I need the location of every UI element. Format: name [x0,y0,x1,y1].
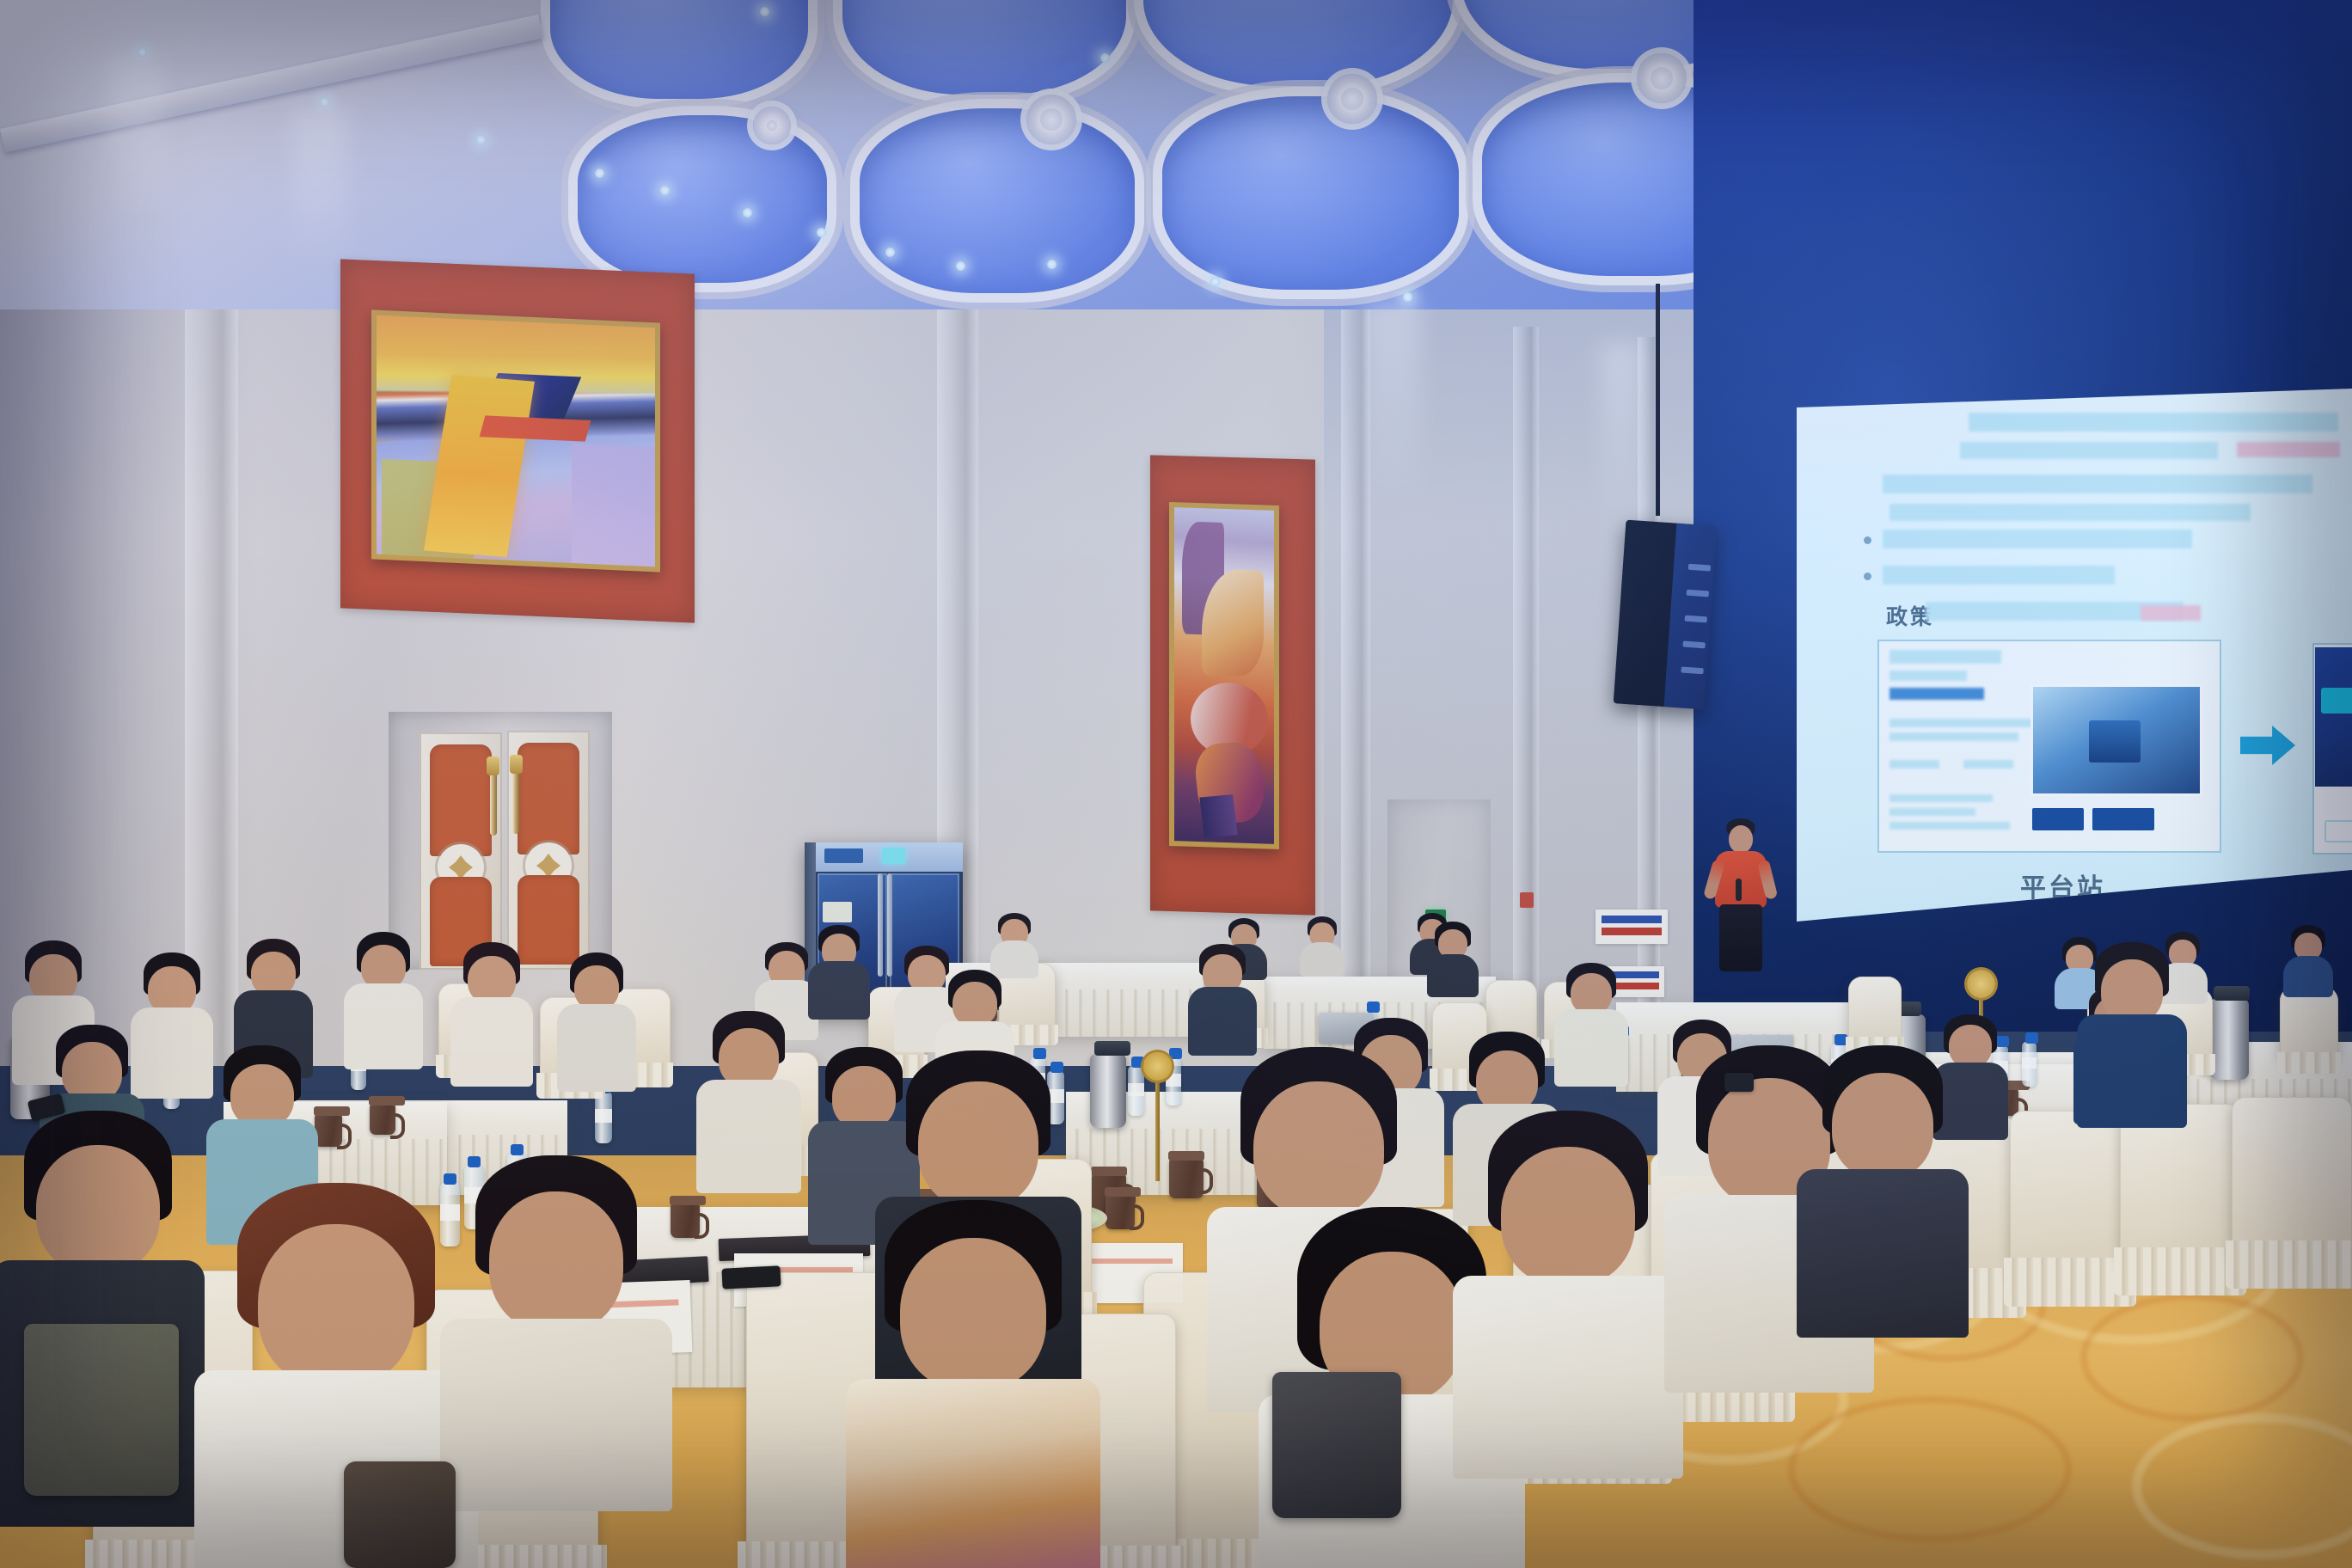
banquet-chair[interactable] [1848,977,1902,1044]
wall-notice-placard [1520,892,1534,908]
slide-blurred-text [1890,671,1967,681]
slide-blurred-text [1890,732,2018,741]
smartphone[interactable] [721,1265,781,1289]
audience-member [557,952,636,1088]
door-leaf-left[interactable] [420,732,502,970]
tea-mug[interactable] [370,1104,395,1135]
audience-member [1554,963,1628,1081]
ceiling-rosette [1026,95,1076,144]
slide-blurred-text [2237,442,2340,457]
slide-blurred-text [1969,413,2338,432]
audience-member [1188,944,1257,1050]
ceiling-coffer [578,115,827,283]
slide-card-button[interactable] [2092,808,2154,830]
tea-mug[interactable] [671,1204,700,1238]
handheld-microphone [1736,879,1742,901]
slide-blurred-text [1890,794,1993,802]
banquet-chair[interactable] [2010,1111,2130,1274]
downlight-glow [108,57,163,220]
slide-blurred-text [1890,719,2036,727]
banquet-chair[interactable] [2232,1097,2352,1257]
slide-blurred-text [1890,760,1939,769]
ceiling-downlight [1047,260,1057,269]
slide-left-card [1877,640,2221,853]
ceiling-rosette [1327,74,1377,124]
slide-blurred-text [1883,475,2312,493]
ceiling-downlight [1210,277,1220,286]
ceiling-downlight [138,47,147,57]
conference-hall-photo: 政策 平台站 [0,0,2352,1568]
ceiling-coffer [1162,96,1459,290]
ceiling-downlight [743,208,752,217]
slide-blurred-text [1883,530,2192,548]
coffered-ceiling [0,0,1805,309]
presenter [1698,818,1784,956]
right-arrow-icon [2240,726,2295,765]
tea-mug[interactable] [1106,1195,1135,1229]
ceiling-downlight [320,97,329,107]
audience-member [1300,916,1344,973]
audience-member [450,942,533,1083]
painting-abstract-vertical [1174,507,1274,844]
fridge-handle-right[interactable] [887,873,892,977]
speaker-mount-rod [1656,284,1660,516]
handbag [344,1461,456,1568]
ceiling-rosette [1637,53,1687,103]
slide-blurred-text [1890,504,2251,521]
ceiling-downlight [476,135,486,144]
fridge-brand-badge [824,848,862,863]
slide-blurred-text [1890,822,2010,830]
presenter-head [1729,825,1753,853]
water-bottle[interactable] [1128,1066,1144,1116]
fridge-notice-label [823,902,852,923]
wall-pilaster [1513,327,1539,1066]
downlight-glow [1365,301,1420,516]
backpack [24,1324,179,1496]
ceiling-downlight [760,7,769,16]
ceiling-downlight [956,261,965,271]
door-handle[interactable] [490,769,497,836]
handbag [1272,1372,1401,1518]
fridge-header-panel [816,842,963,872]
audience-member-foreground [440,1155,672,1499]
downlight-glow [1601,344,1640,542]
fridge-handle-left[interactable] [878,873,883,977]
audience-member [990,913,1038,973]
ceiling-coffer [860,108,1135,293]
slide-chip [2321,688,2352,714]
slide-blurred-text [2141,605,2201,621]
door-leaf-right[interactable] [507,731,590,970]
audience-member [696,1011,801,1188]
ceiling-downlight [595,168,604,178]
slide-blurred-text [1890,688,1984,700]
slide-blurred-text [1960,442,2218,459]
thermos-carafe[interactable] [1090,1054,1126,1128]
painting-left-frame [371,309,660,572]
smartphone[interactable] [1724,1073,1754,1092]
line-array-speaker [1614,520,1718,710]
slide-blurred-text [1963,760,2013,769]
audience-member [344,932,423,1066]
downlight-glow [292,107,347,270]
banquet-chair[interactable] [2280,987,2338,1059]
tea-mug[interactable] [1169,1159,1204,1198]
slide-photo-thumbnail [2030,684,2202,796]
ceiling-downlight [1100,53,1110,63]
audience-member [2283,925,2333,992]
slide-mobile-screenshot [2312,643,2352,854]
audience-member-foreground [1797,1045,1969,1329]
table-number-stand [1155,1078,1160,1181]
water-bottle[interactable] [595,1092,612,1143]
ceiling-downlight [817,228,826,237]
slide-chip [2324,820,2352,842]
slide-bullet-marker [1864,573,1871,580]
audience-member-foreground [846,1200,1100,1568]
audience-member [2077,942,2187,1121]
projection-screen: 政策 平台站 [1797,389,2352,922]
ceiling-rosette [753,107,791,144]
tea-mug[interactable] [315,1114,342,1147]
slide-blurred-text [1890,650,2001,664]
painting-abstract-landscape [377,315,655,567]
door-handle[interactable] [512,767,519,834]
slide-blurred-text [1883,566,2115,585]
painting-right-frame [1169,502,1279,849]
slide-blurred-text [1890,808,1975,816]
door-panel [430,744,493,856]
ceiling-downlight [885,248,895,257]
slide-card-button[interactable] [2032,808,2084,830]
slide-mobile-hero [2315,647,2352,787]
audience-member-foreground [1453,1111,1683,1463]
fridge-temperature-display[interactable] [882,848,905,864]
presenter-legs [1719,904,1762,971]
ceiling-downlight [660,186,670,195]
audience-member [808,925,870,1016]
door-panel [518,743,580,854]
door-knob[interactable] [487,756,499,775]
door-knob[interactable] [510,755,523,774]
slide-bullet-marker [1864,536,1871,544]
wall-directory-sign [1596,910,1668,944]
water-bottle[interactable] [2022,1042,2037,1087]
audience-member [1427,922,1479,990]
